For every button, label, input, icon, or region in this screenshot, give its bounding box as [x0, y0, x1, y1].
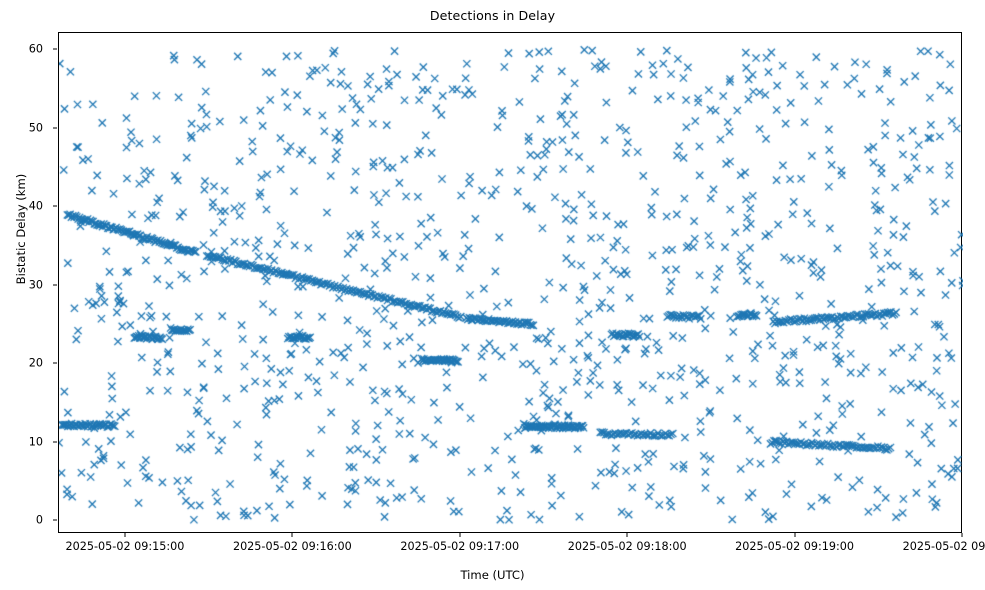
- x-axis-label: Time (UTC): [0, 568, 985, 582]
- chart-figure: Detections in Delay 0102030405060 Bistat…: [0, 0, 985, 590]
- scatter-canvas: [59, 33, 963, 534]
- y-tick-mark: [53, 49, 57, 50]
- x-tick-mark: [794, 533, 795, 537]
- x-tick-mark: [962, 533, 963, 537]
- y-tick-mark: [53, 206, 57, 207]
- x-tick-label: 2025-05-02 09:18:00: [568, 540, 687, 553]
- x-tick-mark: [459, 533, 460, 537]
- y-tick-label: 40: [29, 200, 43, 213]
- y-tick-mark: [53, 441, 57, 442]
- y-tick-mark: [53, 363, 57, 364]
- y-tick-mark: [53, 127, 57, 128]
- y-tick-label: 30: [29, 278, 43, 291]
- x-tick-label: 2025-05-02 09:19:00: [735, 540, 854, 553]
- y-tick-label: 60: [29, 43, 43, 56]
- x-axis-ticks: 2025-05-02 09:15:002025-05-02 09:16:0020…: [0, 533, 985, 563]
- x-tick-mark: [292, 533, 293, 537]
- y-axis-label: Bistatic Delay (km): [14, 39, 28, 419]
- y-tick-label: 10: [29, 435, 43, 448]
- x-tick-label: 2025-05-02 09:17:00: [400, 540, 519, 553]
- y-tick-mark: [53, 284, 57, 285]
- y-tick-label: 0: [36, 514, 43, 527]
- page-title: Detections in Delay: [0, 8, 985, 23]
- plot-area: [58, 32, 962, 533]
- x-tick-mark: [627, 533, 628, 537]
- x-tick-label: 2025-05-02 09:16:00: [233, 540, 352, 553]
- x-tick-mark: [124, 533, 125, 537]
- y-tick-mark: [53, 520, 57, 521]
- y-tick-label: 20: [29, 357, 43, 370]
- y-tick-label: 50: [29, 121, 43, 134]
- x-tick-label: 2025-05-02 09:20:00: [903, 540, 985, 553]
- x-tick-label: 2025-05-02 09:15:00: [66, 540, 185, 553]
